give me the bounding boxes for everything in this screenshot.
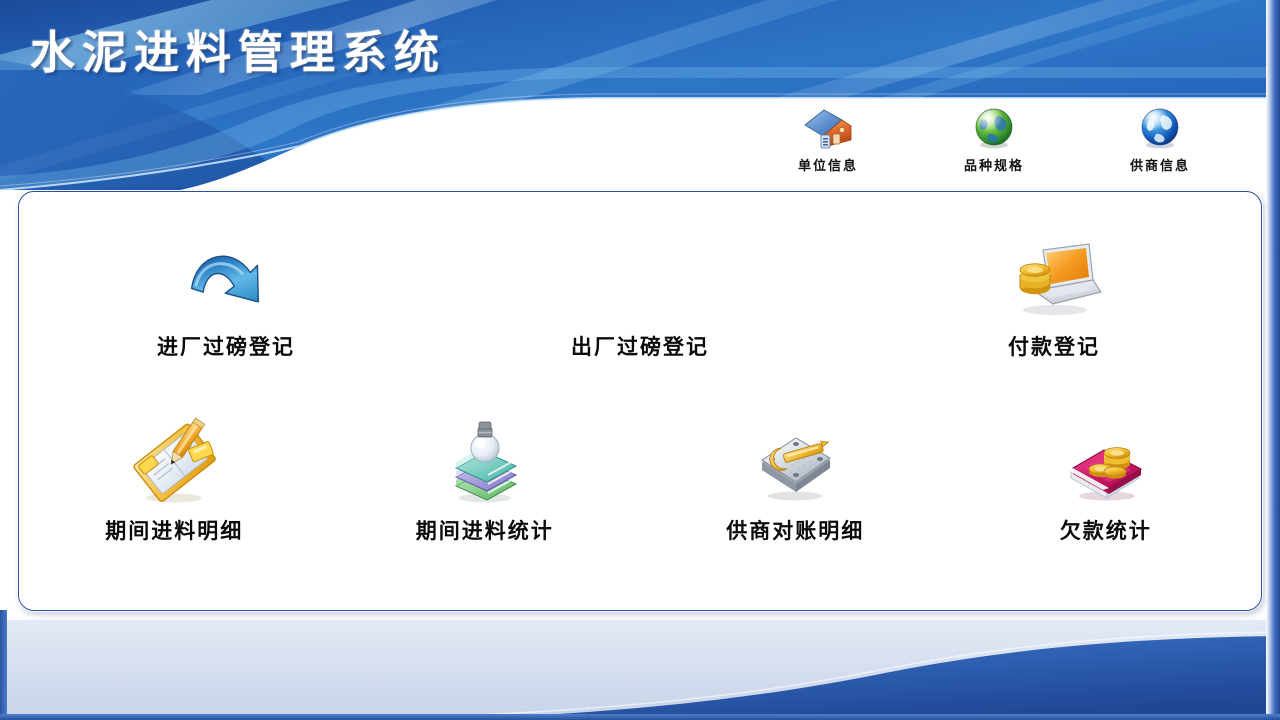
green-globe-icon — [968, 104, 1020, 152]
menu-item-label: 欠款统计 — [1060, 515, 1152, 545]
toolbar-item-product-spec[interactable]: 品种规格 — [911, 104, 1077, 188]
books-lightbulb-icon — [430, 414, 540, 509]
menu-row-2: 期间进料明细 — [19, 414, 1261, 545]
blue-globe-icon — [1134, 104, 1186, 152]
bottom-status-strip — [0, 618, 1280, 720]
toolbar-item-label: 品种规格 — [964, 155, 1024, 174]
window-left-edge — [0, 610, 7, 720]
menu-item-label: 付款登记 — [1008, 331, 1100, 361]
menu-item-outbound-weighing[interactable]: 出厂过磅登记 — [433, 230, 847, 361]
menu-item-supplier-reconciliation[interactable]: 供商对账明细 — [640, 414, 951, 545]
toolbar-item-supplier-info[interactable]: 供商信息 — [1077, 104, 1243, 188]
notebook-pencil-icon — [119, 414, 229, 509]
menu-item-payment-register[interactable]: 付款登记 — [847, 230, 1261, 361]
page-title: 水泥进料管理系统 — [30, 16, 446, 81]
menu-item-period-detail[interactable]: 期间进料明细 — [19, 414, 330, 545]
menu-item-period-statistics[interactable]: 期间进料统计 — [330, 414, 641, 545]
menu-item-inbound-weighing[interactable]: 进厂过磅登记 — [19, 230, 433, 361]
menu-item-arrears-statistics[interactable]: 欠款统计 — [951, 414, 1262, 545]
menu-item-label: 供商对账明细 — [726, 515, 864, 545]
toolbar-item-unit-info[interactable]: 单位信息 — [745, 104, 911, 188]
red-book-coins-icon — [1051, 414, 1161, 509]
house-folder-icon — [802, 104, 854, 152]
window-bottom-edge — [0, 714, 1280, 720]
laptop-coins-icon — [999, 230, 1109, 325]
menu-item-label: 进厂过磅登记 — [157, 331, 295, 361]
menu-item-label: 期间进料明细 — [105, 515, 243, 545]
arrow-curve-up-icon — [585, 230, 695, 325]
toolbar-item-label: 供商信息 — [1130, 155, 1190, 174]
main-content-panel: 进厂过磅登记 — [18, 191, 1262, 611]
bottom-background-graphic — [0, 618, 1280, 720]
application-window: 水泥进料管理系统 — [0, 0, 1280, 720]
menu-item-label: 期间进料统计 — [416, 515, 554, 545]
menu-row-1: 进厂过磅登记 — [19, 230, 1261, 361]
top-toolbar: 单位信息 — [745, 104, 1245, 188]
toolbar-item-label: 单位信息 — [798, 155, 858, 174]
arrow-curve-down-icon — [171, 230, 281, 325]
scale-wrench-icon — [740, 414, 850, 509]
menu-item-label: 出厂过磅登记 — [571, 331, 709, 361]
